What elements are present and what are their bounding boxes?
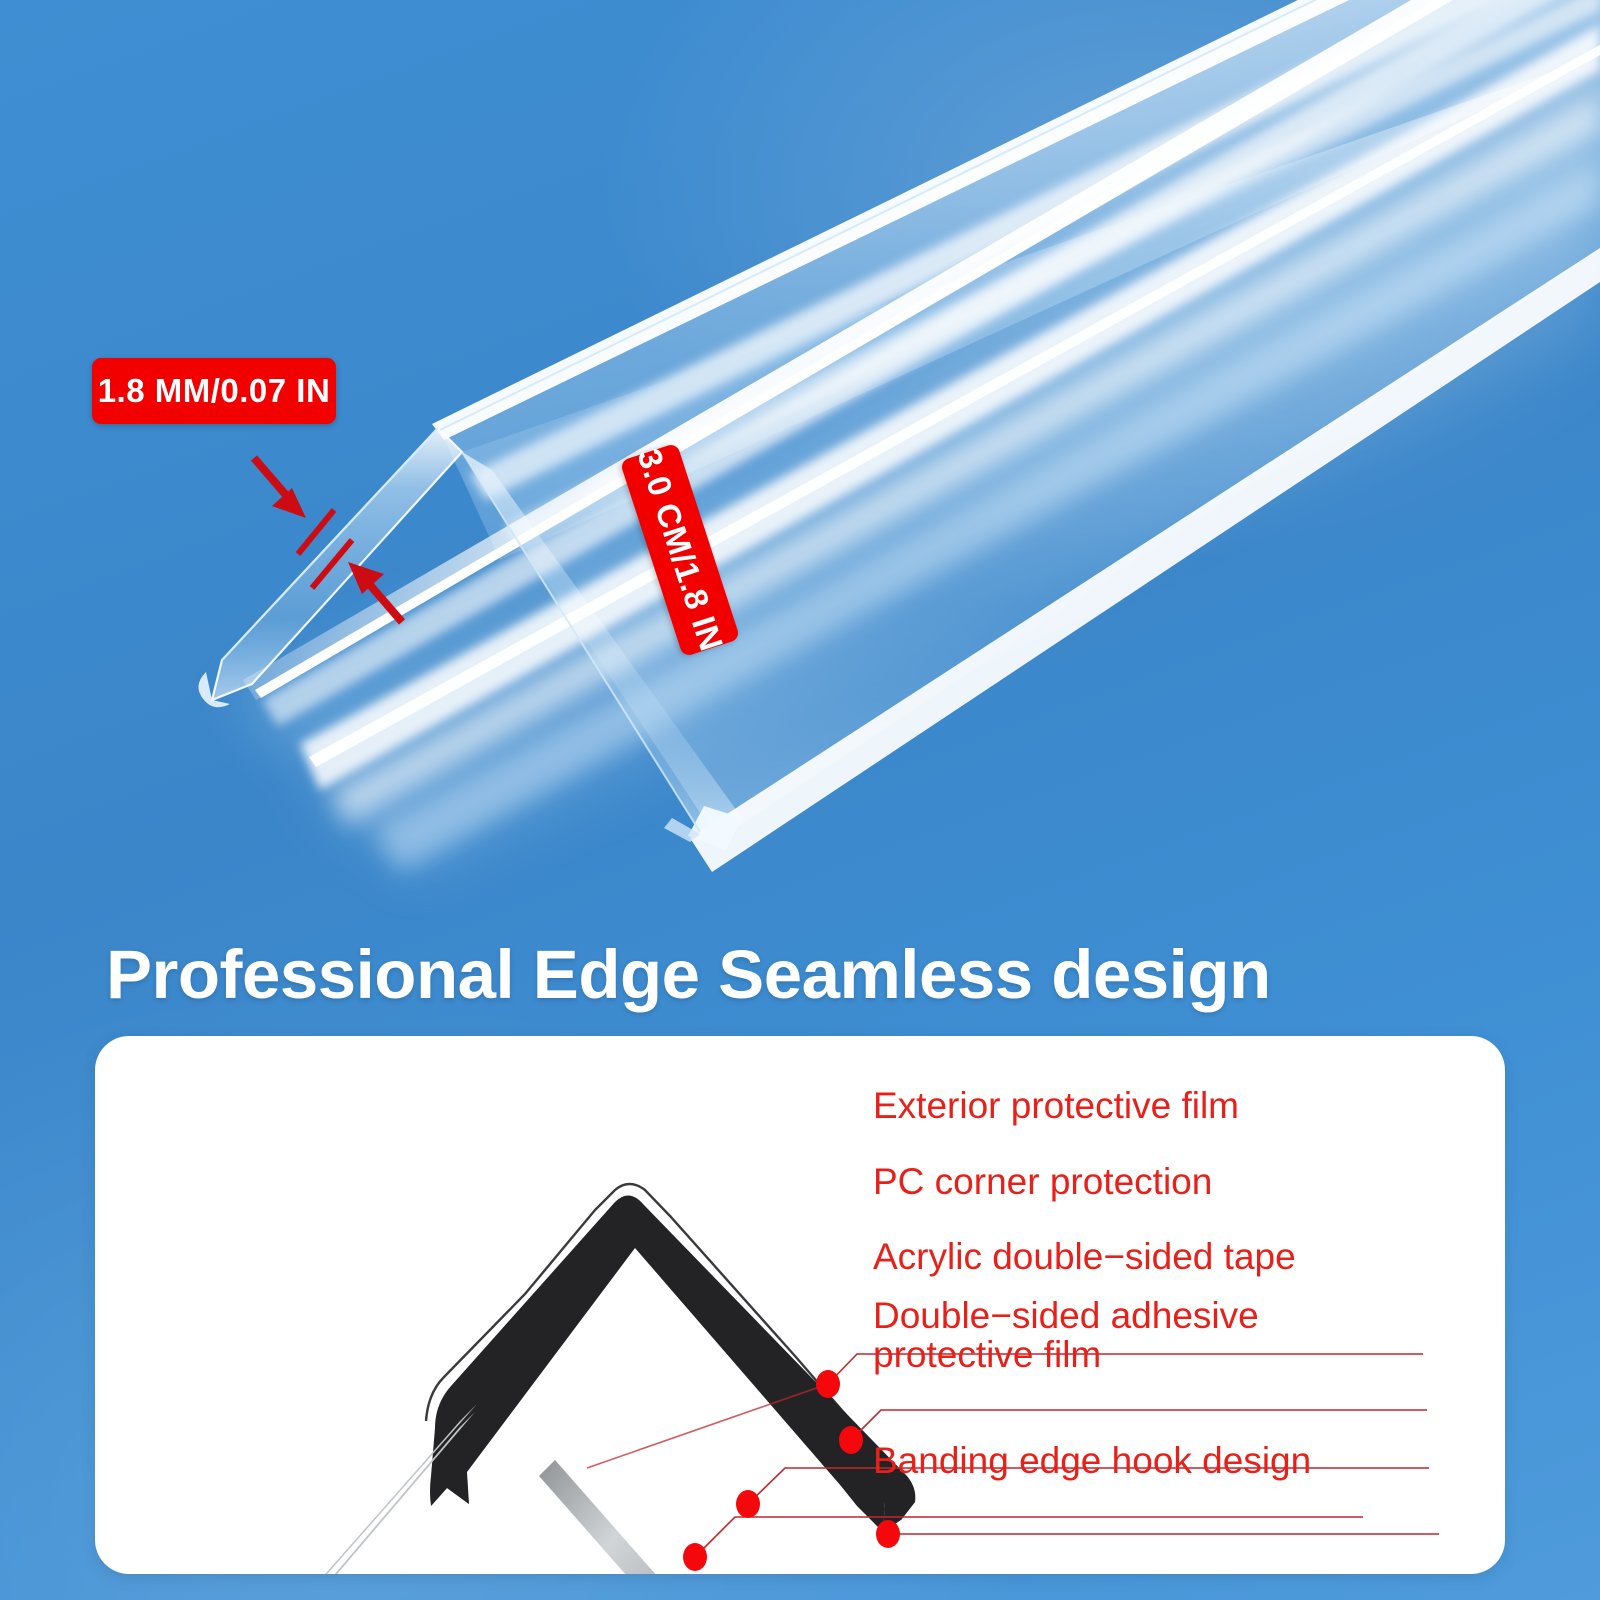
arrow-down-left-icon	[254, 458, 306, 518]
hero-product-image	[0, 0, 1600, 930]
page-title: Professional Edge Seamless design	[106, 935, 1271, 1014]
marker-3	[736, 1490, 760, 1518]
callout-label-double-sided-adhesive-protective-film: Double−sided adhesive protective film	[873, 1296, 1313, 1374]
callout-label-acrylic-double-sided-tape: Acrylic double−sided tape	[873, 1238, 1296, 1277]
callout-label-pc-corner-protection: PC corner protection	[873, 1163, 1212, 1202]
marker-4	[683, 1543, 707, 1571]
callout-label-banding-edge-hook-design: Banding edge hook design	[873, 1442, 1311, 1481]
leader-2	[851, 1410, 1427, 1440]
leader-4	[695, 1517, 1363, 1557]
badge-thickness: 1.8 MM/0.07 IN	[92, 358, 336, 424]
marker-5	[876, 1520, 900, 1548]
adhesive-protective-film-strip	[539, 1460, 745, 1574]
pc-corner-body	[430, 1195, 915, 1532]
callout-label-exterior-protective-film: Exterior protective film	[873, 1087, 1239, 1126]
marker-1	[816, 1370, 840, 1398]
marker-2	[839, 1426, 863, 1454]
infographic-page: 1.8 MM/0.07 IN 3.0 CM/1.8 IN Professiona…	[0, 0, 1600, 1600]
